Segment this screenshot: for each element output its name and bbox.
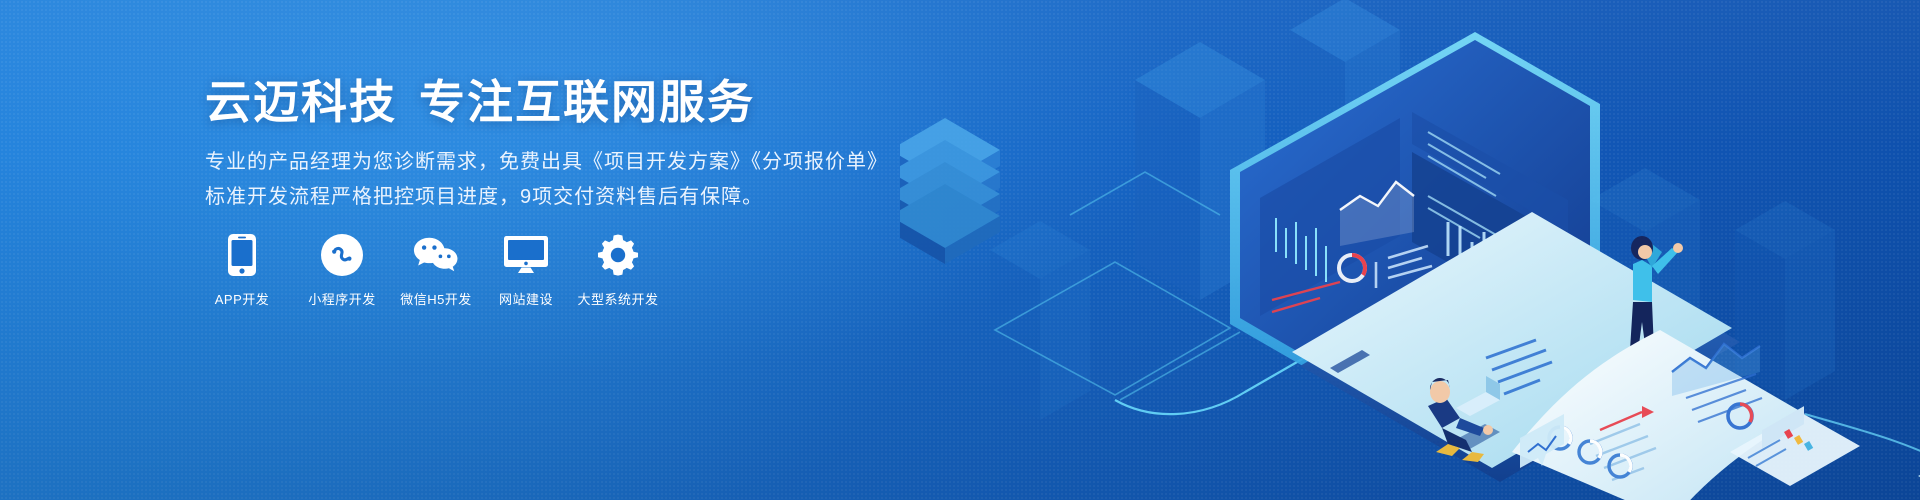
subtitle-line-2: 标准开发流程严格把控项目进度，9项交付资料售后有保障。 bbox=[205, 181, 763, 213]
service-item-large-system[interactable]: 大型系统开发 bbox=[581, 232, 655, 308]
hero-content: 云迈科技专注互联网服务 专业的产品经理为您诊断需求，免费出具《项目开发方案》《分… bbox=[205, 0, 945, 500]
subtitle-line-1: 专业的产品经理为您诊断需求，免费出具《项目开发方案》《分项报价单》 bbox=[205, 146, 888, 178]
mini-program-icon bbox=[319, 232, 365, 278]
service-item-wechat-h5[interactable]: 微信H5开发 bbox=[399, 232, 473, 308]
service-label: 微信H5开发 bbox=[400, 289, 472, 308]
hero-banner: 云迈科技专注互联网服务 专业的产品经理为您诊断需求，免费出具《项目开发方案》《分… bbox=[0, 0, 1920, 500]
service-item-miniprogram[interactable]: 小程序开发 bbox=[305, 232, 379, 308]
wechat-chat-icon bbox=[413, 232, 459, 278]
service-label: 大型系统开发 bbox=[578, 289, 659, 308]
mobile-phone-icon bbox=[219, 232, 265, 278]
service-icon-row: APP开发 小程序开发 bbox=[205, 232, 655, 308]
headline-tagline: 专注互联网服务 bbox=[419, 76, 755, 128]
headline-brand: 云迈科技 bbox=[205, 76, 397, 128]
page-title: 云迈科技专注互联网服务 bbox=[205, 74, 755, 130]
service-item-website[interactable]: 网站建设 bbox=[489, 232, 563, 308]
service-item-app[interactable]: APP开发 bbox=[205, 232, 279, 308]
monitor-icon bbox=[503, 232, 549, 278]
service-label: 小程序开发 bbox=[308, 289, 376, 308]
illustration-container bbox=[900, 0, 1920, 500]
service-label: APP开发 bbox=[215, 289, 270, 308]
isometric-data-platform-illustration bbox=[900, 0, 1920, 500]
service-label: 网站建设 bbox=[499, 289, 553, 308]
gear-icon bbox=[595, 232, 641, 278]
